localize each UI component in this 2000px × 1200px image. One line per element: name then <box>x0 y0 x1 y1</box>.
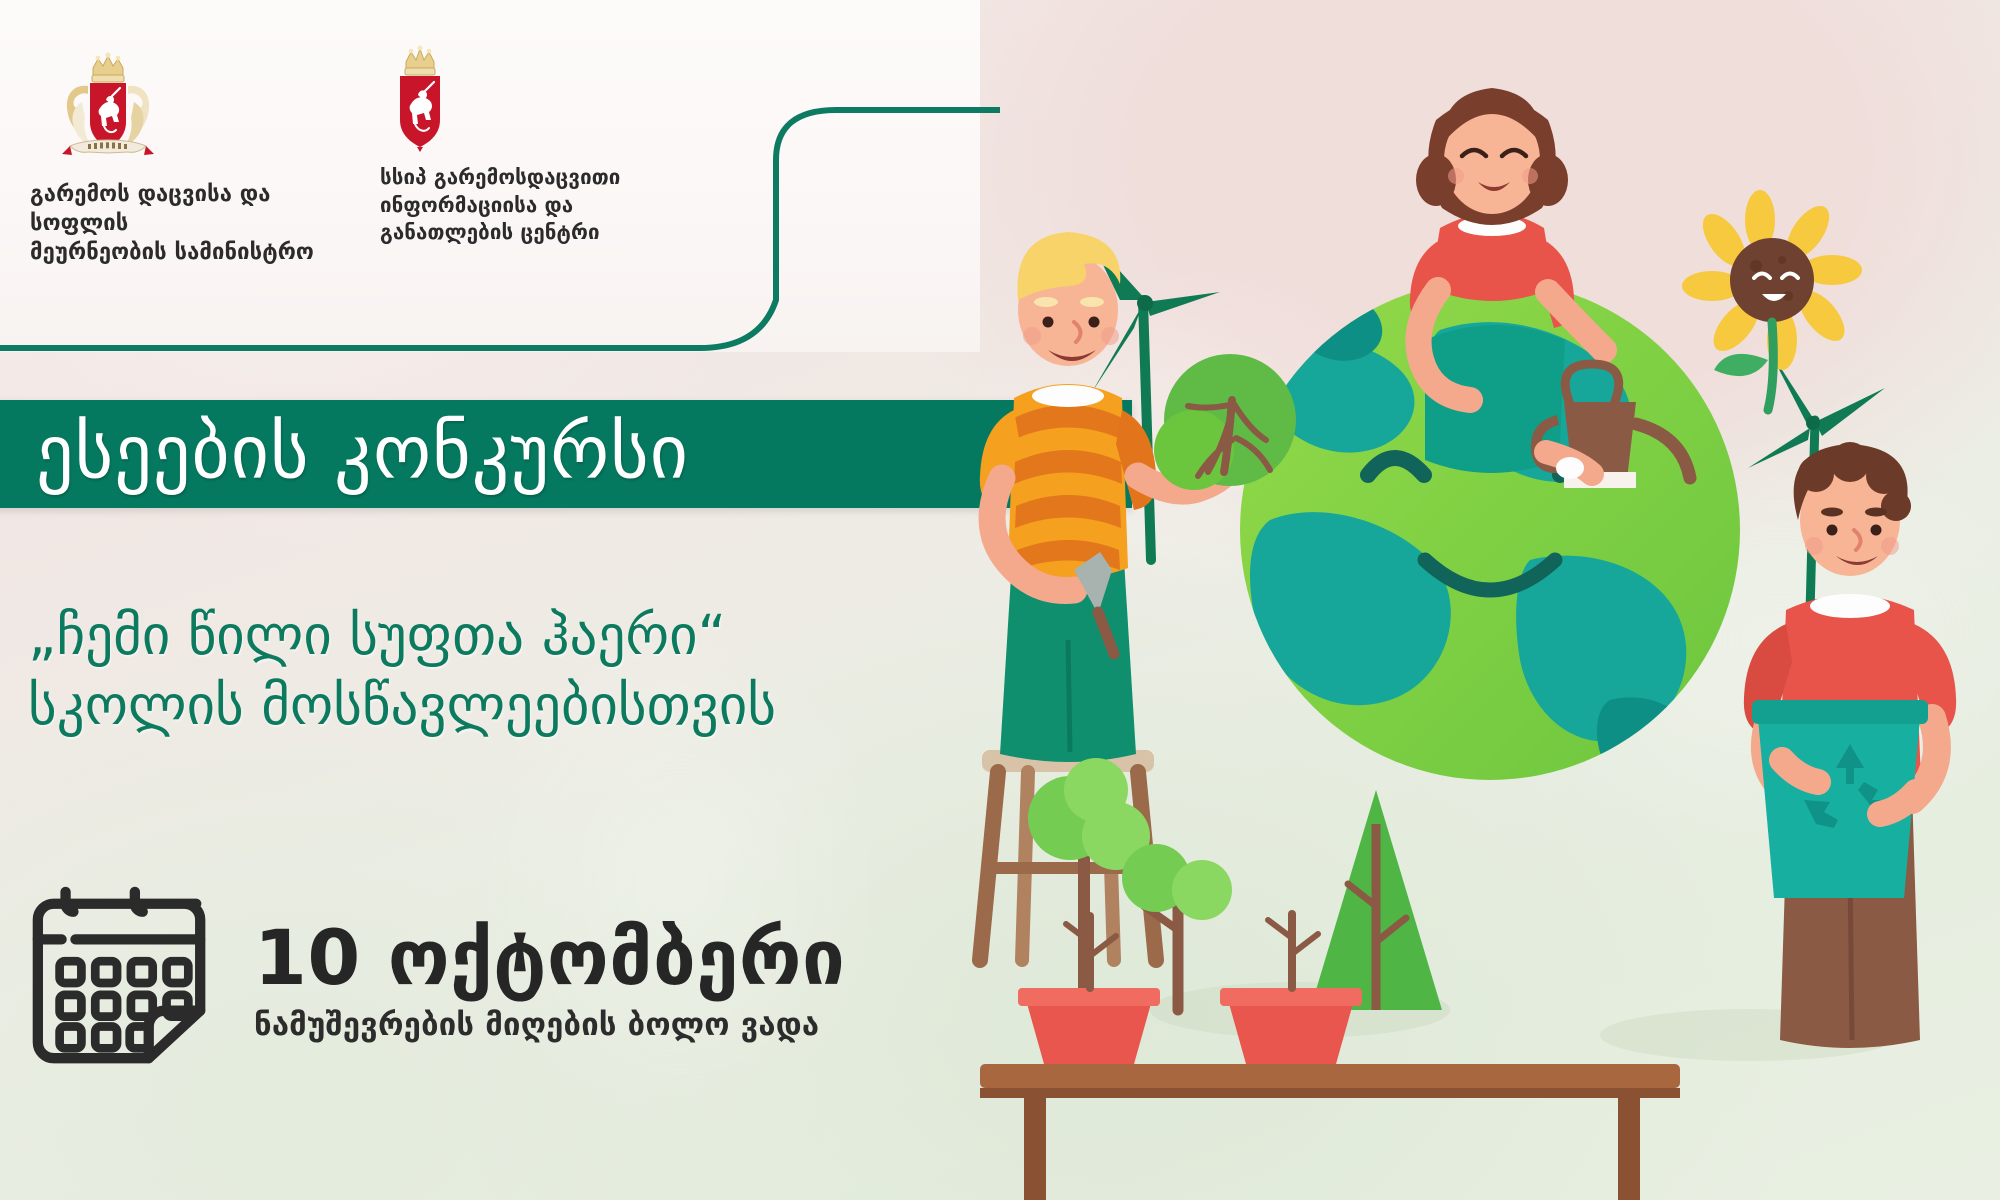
subtitle-line-theme: „ჩემი წილი სუფთა ჰაერი“ <box>28 603 726 667</box>
deadline-date: 10 ოქტომბერი <box>254 919 845 997</box>
boy-eyebrow-right <box>1080 297 1104 307</box>
boy-eyebrow-left <box>1034 297 1058 307</box>
georgia-small-coat-of-arms-icon <box>380 44 710 152</box>
georgia-coat-of-arms-icon <box>30 52 360 168</box>
center-name-line3: განათლების ცენტრი <box>380 220 600 244</box>
girl-cuff <box>1556 457 1584 479</box>
calendar-icon <box>22 880 220 1078</box>
boy-eye-right <box>1089 317 1100 328</box>
boy-collar <box>1032 385 1104 407</box>
boy2-eyebrow-right <box>1865 508 1887 517</box>
ministry-name: გარემოს დაცვისა და სოფლის მეურნეობის სამ… <box>30 180 360 267</box>
boy2-collar <box>1810 594 1890 618</box>
ministry-logo: გარემოს დაცვისა და სოფლის მეურნეობის სამ… <box>30 52 360 267</box>
sunflower-character <box>1682 190 1862 410</box>
center-logo: სსიპ გარემოსდაცვითი ინფორმაციისა და განა… <box>380 44 710 247</box>
ministry-name-line2: მეურნეობის სამინისტრო <box>30 240 314 265</box>
boy-pants-seam <box>1068 640 1070 752</box>
center-name: სსიპ გარემოსდაცვითი ინფორმაციისა და განა… <box>380 164 710 247</box>
contest-title-banner: ესეების კონკურსი <box>0 400 1132 508</box>
poster-root: გარემოს დაცვისა და სოფლის მეურნეობის სამ… <box>0 0 2000 1200</box>
girl-red-shirt-watering-can <box>1410 88 1690 488</box>
boy-eye-left <box>1043 317 1054 328</box>
deadline-text: 10 ოქტომბერი ნამუშევრების მიღების ბოლო ვ… <box>254 915 845 1043</box>
boy2-eyebrow-left <box>1821 508 1843 517</box>
logo-group: გარემოს დაცვისა და სოფლის მეურნეობის სამ… <box>0 52 920 282</box>
center-name-line2: ინფორმაციისა და <box>380 193 573 217</box>
boy-striped-shirt <box>1008 384 1128 579</box>
page-title: ესეების კონკურსი <box>36 409 689 495</box>
sunflower-stem <box>1768 322 1773 410</box>
contest-subtitle: „ჩემი წილი სუფთა ჰაერი“ სკოლის მოსწავლეე… <box>28 600 1128 741</box>
center-name-line1: სსიპ გარემოსდაცვითი <box>380 165 620 189</box>
boy2-eye-left <box>1827 525 1838 536</box>
deadline-note: ნამუშევრების მიღების ბოლო ვადა <box>254 1007 845 1043</box>
sunflower-leaf <box>1714 354 1768 376</box>
eco-illustration <box>970 0 2000 1200</box>
boy-curly-hair-recycling-bin <box>1744 442 1956 1048</box>
subtitle-line-audience: სკოლის მოსწავლეებისთვის <box>28 670 1128 740</box>
deadline-block: 10 ოქტომბერი ნამუშევრების მიღების ბოლო ვ… <box>22 880 1122 1078</box>
boy2-eye-right <box>1871 525 1882 536</box>
potted-plant-1 <box>1018 916 1160 1064</box>
ministry-name-line1: გარემოს დაცვისა და სოფლის <box>30 182 270 236</box>
